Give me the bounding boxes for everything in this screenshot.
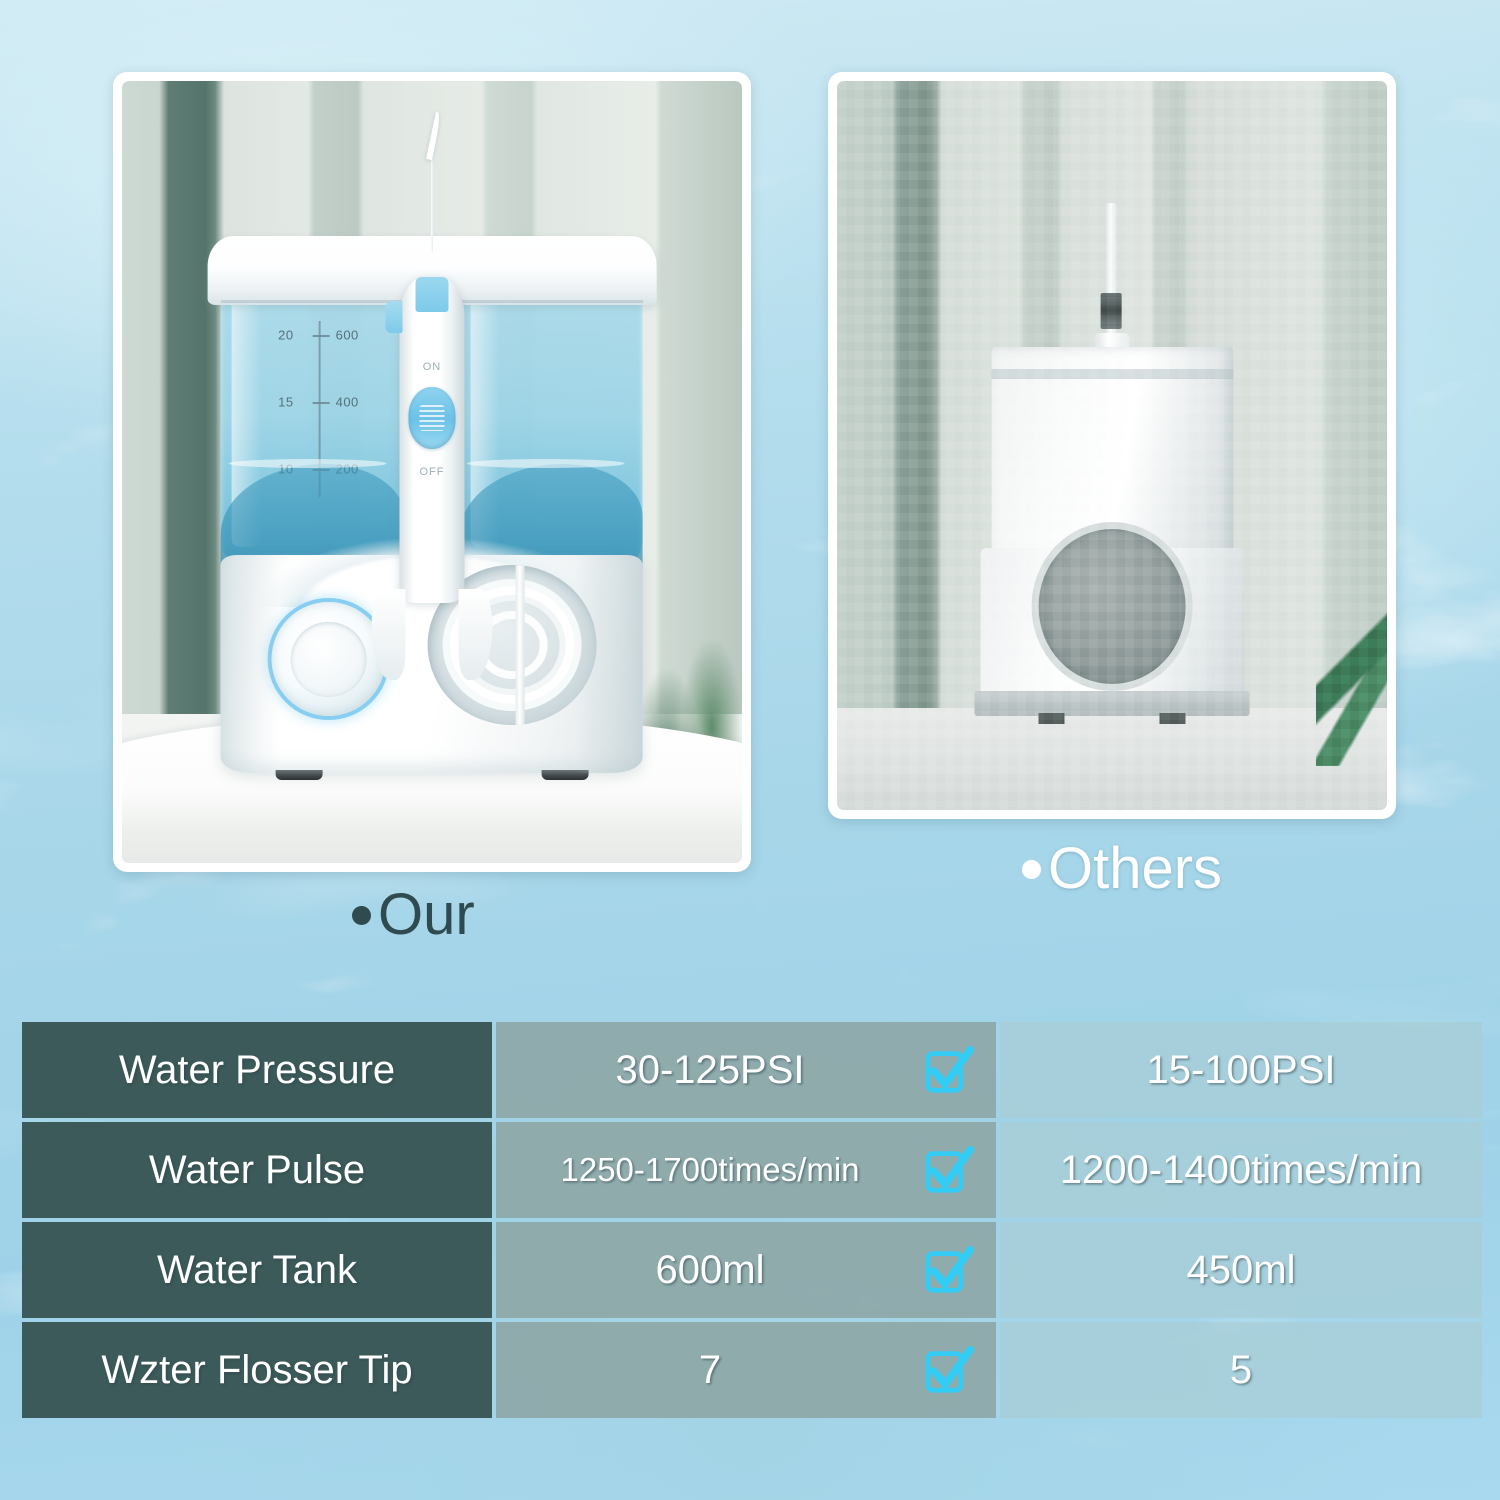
competitor-dial[interactable] bbox=[1038, 529, 1186, 684]
spec-our-value: 7 bbox=[510, 1348, 982, 1393]
checkmark-icon bbox=[924, 1045, 974, 1095]
device-foot-left bbox=[276, 770, 322, 780]
handle-clip bbox=[386, 301, 403, 333]
nozzle-collar bbox=[415, 277, 448, 313]
spec-other-cell: 1200-1400times/min bbox=[1000, 1122, 1482, 1218]
device-foot-right bbox=[542, 770, 588, 780]
spec-label-cell: Wzter Flosser Tip bbox=[22, 1322, 492, 1418]
switch-off-label: OFF bbox=[400, 466, 464, 478]
checkmark-icon bbox=[924, 1345, 974, 1395]
handle-body: ON OFF bbox=[400, 277, 464, 603]
product-photo-others bbox=[828, 72, 1396, 819]
graduation-oz-value: 15 bbox=[278, 394, 293, 409]
graduation-tick bbox=[312, 335, 329, 337]
checkmark-icon bbox=[924, 1145, 974, 1195]
competitor-base-sole bbox=[975, 691, 1250, 716]
plant-decor bbox=[1316, 577, 1388, 767]
graduation-ml-value: 400 bbox=[336, 394, 359, 409]
pressure-control-dial[interactable] bbox=[272, 602, 386, 716]
flosser-nozzle-tip bbox=[428, 112, 437, 252]
bullet-dot-icon bbox=[352, 906, 371, 925]
power-switch-knob[interactable] bbox=[409, 387, 455, 449]
caption-our-label: Our bbox=[378, 882, 475, 947]
switch-on-label: ON bbox=[400, 361, 464, 373]
spec-comparison-table: Water Pressure 30-125PSI 15-100PSI Water… bbox=[18, 1018, 1486, 1422]
spec-our-value: 1250-1700times/min bbox=[510, 1151, 982, 1189]
table-row: Wzter Flosser Tip 7 5 bbox=[22, 1322, 1482, 1418]
competitor-foot-right bbox=[1160, 713, 1186, 724]
spec-other-cell: 5 bbox=[1000, 1322, 1482, 1418]
spec-our-value: 600ml bbox=[510, 1248, 982, 1293]
spec-our-cell: 1250-1700times/min bbox=[496, 1122, 996, 1218]
competitor-flosser-device bbox=[975, 263, 1250, 730]
spec-label-cell: Water Pulse bbox=[22, 1122, 492, 1218]
tank-seam bbox=[991, 369, 1233, 380]
graduation-ml-value: 600 bbox=[336, 328, 359, 343]
table-row: Water Pulse 1250-1700times/min 1200-1400… bbox=[22, 1122, 1482, 1218]
competitor-power-button[interactable] bbox=[1101, 293, 1122, 329]
graduation-oz-value: 20 bbox=[278, 328, 293, 343]
spec-other-cell: 450ml bbox=[1000, 1222, 1482, 1318]
table-row: Water Pressure 30-125PSI 15-100PSI bbox=[22, 1022, 1482, 1118]
product-photo-others-image bbox=[837, 81, 1387, 810]
spec-our-cell: 30-125PSI bbox=[496, 1022, 996, 1118]
product-photo-our: OZ. ML 20 600 15 400 10 bbox=[113, 72, 751, 872]
checkmark-icon bbox=[924, 1245, 974, 1295]
spec-our-cell: 600ml bbox=[496, 1222, 996, 1318]
water-flosser-device: OZ. ML 20 600 15 400 10 bbox=[203, 241, 662, 773]
caption-others-label: Others bbox=[1048, 836, 1222, 901]
product-photo-our-image: OZ. ML 20 600 15 400 10 bbox=[122, 81, 742, 863]
competitor-foot-left bbox=[1038, 713, 1064, 724]
spec-table-body: Water Pressure 30-125PSI 15-100PSI Water… bbox=[22, 1022, 1482, 1418]
flosser-handle: ON OFF bbox=[400, 252, 464, 603]
caption-others: Others bbox=[1022, 840, 1222, 898]
spec-our-cell: 7 bbox=[496, 1322, 996, 1418]
hose-tube bbox=[516, 565, 525, 725]
spec-other-cell: 15-100PSI bbox=[1000, 1022, 1482, 1118]
table-row: Water Tank 600ml 450ml bbox=[22, 1222, 1482, 1318]
spec-our-value: 30-125PSI bbox=[510, 1048, 982, 1093]
competitor-base bbox=[980, 548, 1244, 707]
graduation-tick bbox=[312, 402, 329, 404]
bullet-dot-icon bbox=[1022, 860, 1041, 879]
spec-label-cell: Water Tank bbox=[22, 1222, 492, 1318]
caption-our: Our bbox=[352, 886, 475, 944]
spec-label-cell: Water Pressure bbox=[22, 1022, 492, 1118]
